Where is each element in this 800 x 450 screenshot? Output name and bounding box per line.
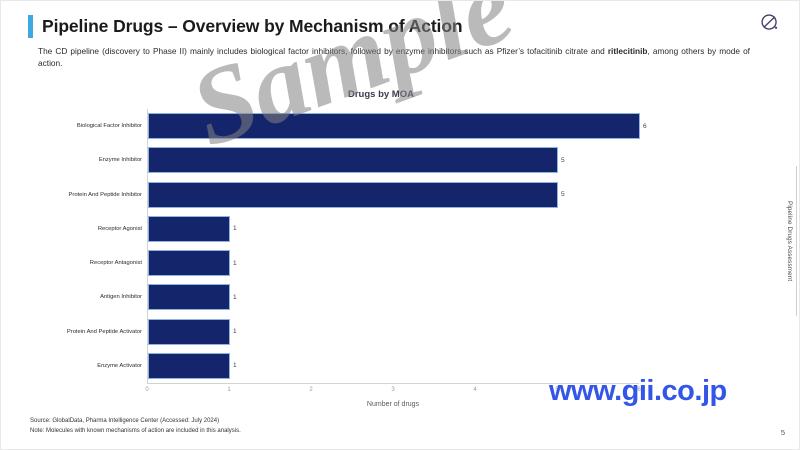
title-accent-bar — [28, 15, 33, 38]
bar[interactable] — [148, 113, 640, 139]
footer: Source: GlobalData, Pharma Intelligence … — [30, 417, 241, 436]
subtitle-part-1: The CD pipeline (discovery to Phase II) … — [38, 46, 608, 56]
bar-value-label: 5 — [561, 157, 565, 164]
slide: Pipeline Drugs – Overview by Mechanism o… — [0, 0, 800, 450]
footer-note: Note: Molecules with known mechanisms of… — [30, 427, 241, 436]
page-title: Pipeline Drugs – Overview by Mechanism o… — [28, 15, 463, 38]
bar-value-label: 1 — [233, 294, 237, 301]
bar[interactable] — [148, 182, 558, 208]
bar-row[interactable]: 1 — [148, 250, 237, 276]
bar[interactable] — [148, 284, 230, 310]
chart-plot-area: 65511111 — [147, 109, 640, 383]
bar[interactable] — [148, 147, 558, 173]
subtitle-highlight: ritlecitinib — [608, 46, 648, 56]
bar-row[interactable]: 1 — [148, 284, 237, 310]
bar-value-label: 1 — [233, 260, 237, 267]
bar-value-label: 1 — [233, 362, 237, 369]
bar-row[interactable]: 5 — [148, 147, 565, 173]
category-label: Enzyme Inhibitor — [99, 147, 142, 173]
bar-row[interactable]: 6 — [148, 113, 647, 139]
bar[interactable] — [148, 216, 230, 242]
category-label: Antigen Inhibitor — [100, 284, 142, 310]
category-label: Receptor Antagonist — [90, 250, 142, 276]
bar-row[interactable]: 1 — [148, 353, 237, 379]
page-number: 5 — [781, 428, 785, 437]
category-label: Receptor Agonist — [98, 216, 142, 242]
bar-row[interactable]: 1 — [148, 319, 237, 345]
section-tab-label: Pipeline Drugs Assessment — [781, 176, 793, 306]
bar-value-label: 5 — [561, 191, 565, 198]
chart-title: Drugs by MOA — [1, 89, 761, 100]
bar[interactable] — [148, 250, 230, 276]
x-axis-tick: 3 — [391, 387, 394, 393]
bar[interactable] — [148, 353, 230, 379]
x-axis-tick: 0 — [145, 387, 148, 393]
bar-value-label: 6 — [643, 123, 647, 130]
category-label: Protein And Peptide Inhibitor — [69, 182, 142, 208]
chart-drugs-by-moa: Drugs by MOA Biological Factor Inhibitor… — [1, 81, 761, 391]
category-label: Protein And Peptide Activator — [67, 319, 142, 345]
x-axis-tick: 4 — [473, 387, 476, 393]
bar-row[interactable]: 5 — [148, 182, 565, 208]
side-divider — [796, 166, 797, 316]
bar-value-label: 1 — [233, 225, 237, 232]
url-watermark: www.gii.co.jp — [549, 375, 727, 408]
x-axis-tick: 2 — [309, 387, 312, 393]
category-label: Enzyme Activator — [97, 353, 142, 379]
page-title-text: Pipeline Drugs – Overview by Mechanism o… — [42, 16, 463, 37]
bar-row[interactable]: 1 — [148, 216, 237, 242]
page-subtitle: The CD pipeline (discovery to Phase II) … — [38, 45, 750, 69]
globaldata-logo-icon — [759, 12, 781, 34]
footer-source: Source: GlobalData, Pharma Intelligence … — [30, 417, 241, 426]
chart-category-labels: Biological Factor InhibitorEnzyme Inhibi… — [1, 109, 142, 383]
bar-value-label: 1 — [233, 328, 237, 335]
bar[interactable] — [148, 319, 230, 345]
x-axis-tick: 1 — [227, 387, 230, 393]
category-label: Biological Factor Inhibitor — [77, 113, 142, 139]
